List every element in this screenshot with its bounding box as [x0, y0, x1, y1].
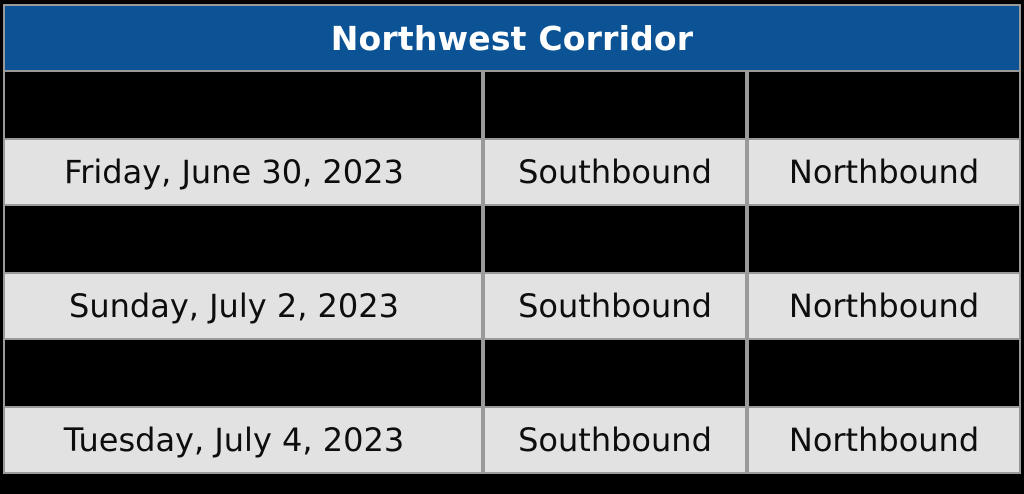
table-row: Sunday, July 2, 2023 Southbound Northbou…: [3, 274, 1021, 340]
direction-label-southbound: Southbound: [485, 424, 745, 456]
blank-cell-southbound: [483, 206, 747, 274]
blank-cell-date: [3, 72, 483, 140]
blank-cell-date: [3, 206, 483, 274]
page-title: Northwest Corridor: [5, 22, 1019, 55]
direction-label-southbound: Southbound: [485, 290, 745, 322]
date-label: Sunday, July 2, 2023: [5, 290, 481, 322]
blank-cell-southbound: [483, 340, 747, 408]
cell-date: Friday, June 30, 2023: [3, 140, 483, 206]
table-row: [3, 340, 1021, 408]
cell-northbound: Northbound: [747, 140, 1021, 206]
table-title-cell: Northwest Corridor: [3, 4, 1021, 72]
blank-cell-date: [3, 340, 483, 408]
table-row: [3, 206, 1021, 274]
schedule-table-container: Northwest Corridor Friday, June 30, 2023: [0, 0, 1024, 494]
table-row: [3, 72, 1021, 140]
cell-date: Sunday, July 2, 2023: [3, 274, 483, 340]
blank-cell-southbound: [483, 72, 747, 140]
date-label: Tuesday, July 4, 2023: [5, 424, 481, 456]
cell-southbound: Southbound: [483, 274, 747, 340]
direction-label-southbound: Southbound: [485, 156, 745, 188]
blank-cell-northbound: [747, 72, 1021, 140]
blank-cell-northbound: [747, 340, 1021, 408]
cell-southbound: Southbound: [483, 408, 747, 474]
date-label: Friday, June 30, 2023: [5, 156, 481, 188]
direction-label-northbound: Northbound: [749, 156, 1019, 188]
northwest-corridor-schedule-table: Northwest Corridor Friday, June 30, 2023: [3, 4, 1021, 474]
direction-label-northbound: Northbound: [749, 290, 1019, 322]
cell-northbound: Northbound: [747, 274, 1021, 340]
cell-date: Tuesday, July 4, 2023: [3, 408, 483, 474]
cell-southbound: Southbound: [483, 140, 747, 206]
table-row: Tuesday, July 4, 2023 Southbound Northbo…: [3, 408, 1021, 474]
blank-cell-northbound: [747, 206, 1021, 274]
cell-northbound: Northbound: [747, 408, 1021, 474]
table-title-row: Northwest Corridor: [3, 4, 1021, 72]
table-row: Friday, June 30, 2023 Southbound Northbo…: [3, 140, 1021, 206]
direction-label-northbound: Northbound: [749, 424, 1019, 456]
